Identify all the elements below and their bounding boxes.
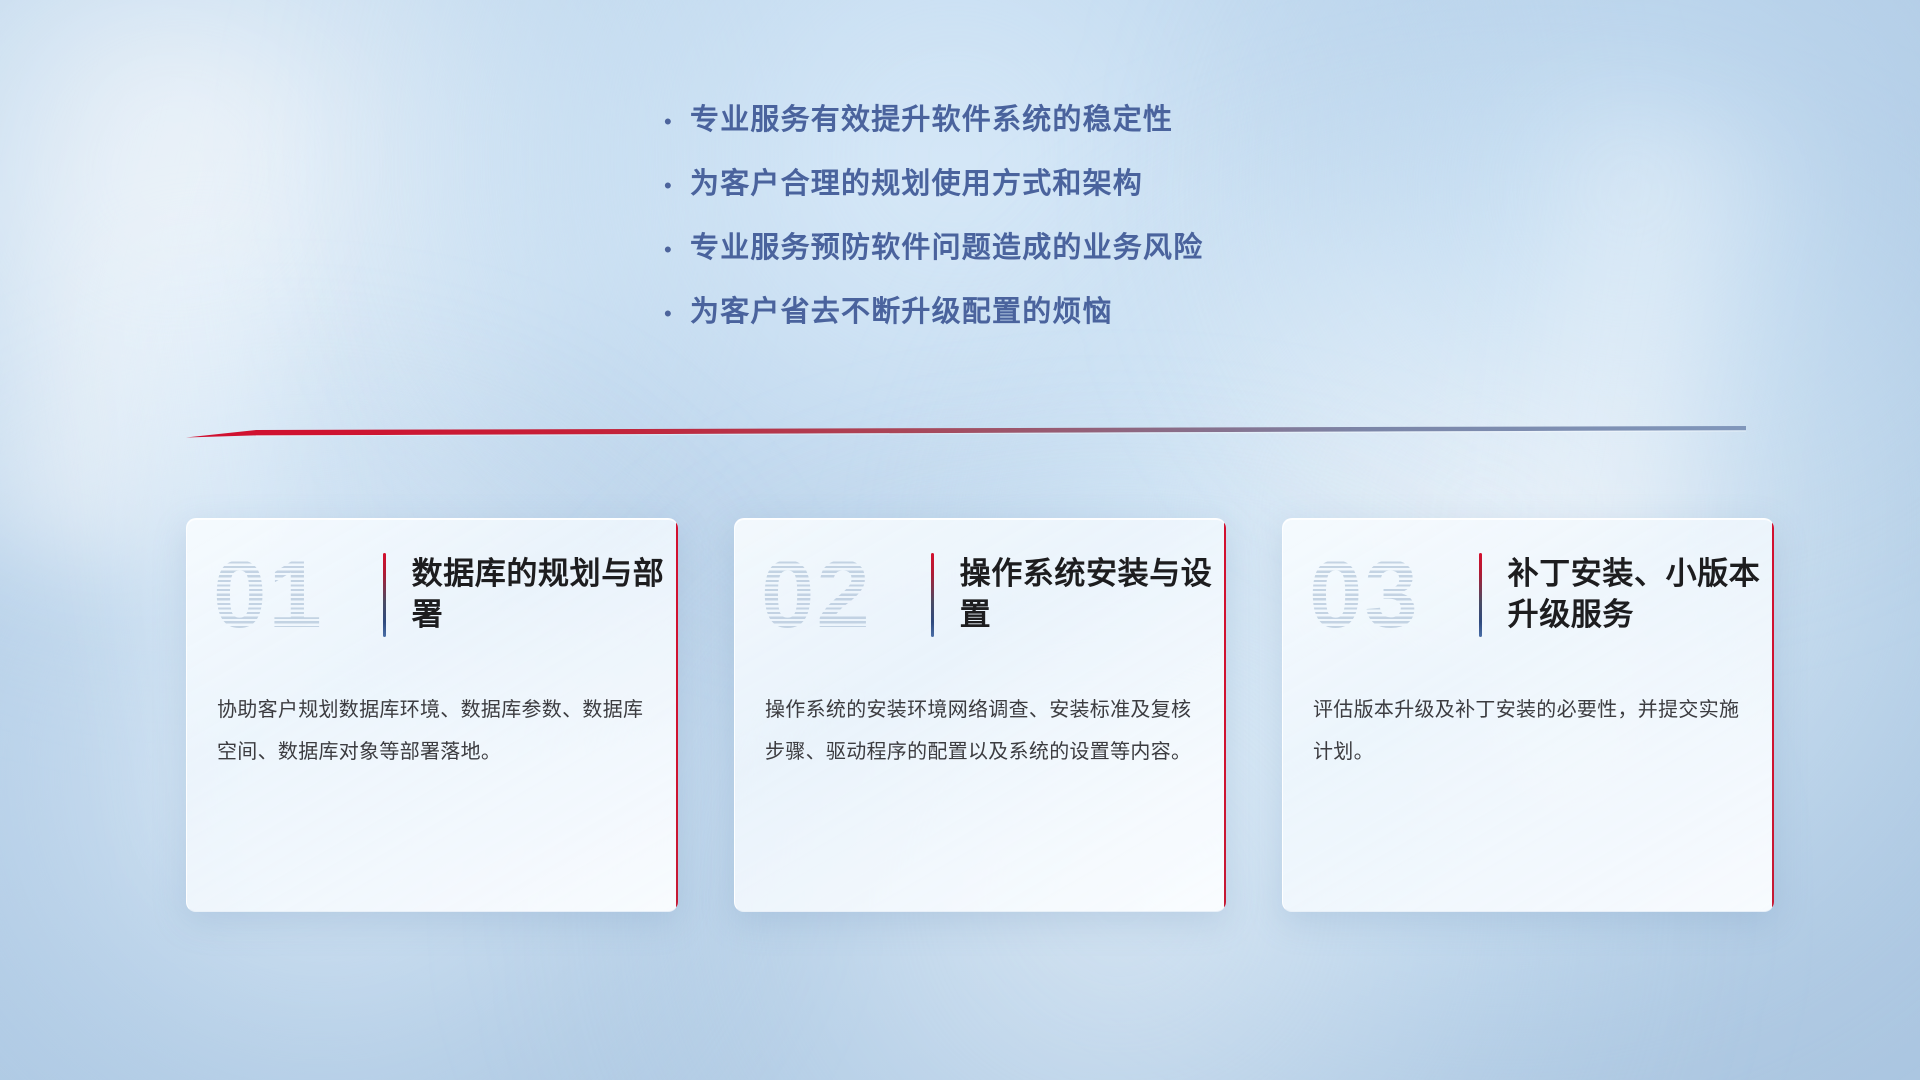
card-description: 操作系统的安装环境网络调查、安装标准及复核步骤、驱动程序的配置以及系统的设置等内… [735, 671, 1226, 774]
card-title: 数据库的规划与部署 [412, 554, 678, 636]
bullet-label: 为客户合理的规划使用方式和架构 [690, 160, 1143, 202]
section-divider [186, 424, 1746, 446]
card-title-divider [383, 553, 386, 637]
service-card[interactable]: 02 操作系统安装与设置 操作系统的安装环境网络调查、安装标准及复核步骤、驱动程… [734, 518, 1226, 912]
bullet-marker-icon: • [660, 239, 690, 261]
list-item: • 专业服务预防软件问题造成的业务风险 [660, 224, 1460, 288]
list-item: • 为客户省去不断升级配置的烦恼 [660, 288, 1460, 352]
bullet-marker-icon: • [660, 175, 690, 197]
bullet-label: 为客户省去不断升级配置的烦恼 [690, 288, 1113, 330]
bullet-marker-icon: • [660, 111, 690, 133]
bullet-label: 专业服务预防软件问题造成的业务风险 [690, 224, 1203, 266]
list-item: • 专业服务有效提升软件系统的稳定性 [660, 96, 1460, 160]
bullet-marker-icon: • [660, 303, 690, 325]
service-card[interactable]: 03 补丁安装、小版本升级服务 评估版本升级及补丁安装的必要性，并提交实施计划。 [1282, 518, 1774, 912]
card-number-watermark: 03 [1309, 543, 1469, 647]
card-title-divider [931, 553, 934, 637]
service-card-list: 01 数据库的规划与部署 协助客户规划数据库环境、数据库参数、数据库空间、数据库… [186, 518, 1774, 912]
tapered-rule-icon [186, 424, 1746, 446]
bullet-label: 专业服务有效提升软件系统的稳定性 [690, 96, 1173, 138]
card-description: 评估版本升级及补丁安装的必要性，并提交实施计划。 [1283, 671, 1774, 774]
card-description: 协助客户规划数据库环境、数据库参数、数据库空间、数据库对象等部署落地。 [187, 671, 678, 774]
card-number-watermark: 02 [761, 543, 921, 647]
card-number-watermark: 01 [213, 543, 373, 647]
card-title: 操作系统安装与设置 [960, 554, 1226, 636]
card-header: 03 补丁安装、小版本升级服务 [1283, 519, 1774, 671]
card-header: 01 数据库的规划与部署 [187, 519, 678, 671]
list-item: • 为客户合理的规划使用方式和架构 [660, 160, 1460, 224]
card-title-divider [1479, 553, 1482, 637]
service-card[interactable]: 01 数据库的规划与部署 协助客户规划数据库环境、数据库参数、数据库空间、数据库… [186, 518, 678, 912]
card-header: 02 操作系统安装与设置 [735, 519, 1226, 671]
benefits-bullet-list: • 专业服务有效提升软件系统的稳定性 • 为客户合理的规划使用方式和架构 • 专… [660, 96, 1460, 352]
card-title: 补丁安装、小版本升级服务 [1508, 554, 1774, 636]
